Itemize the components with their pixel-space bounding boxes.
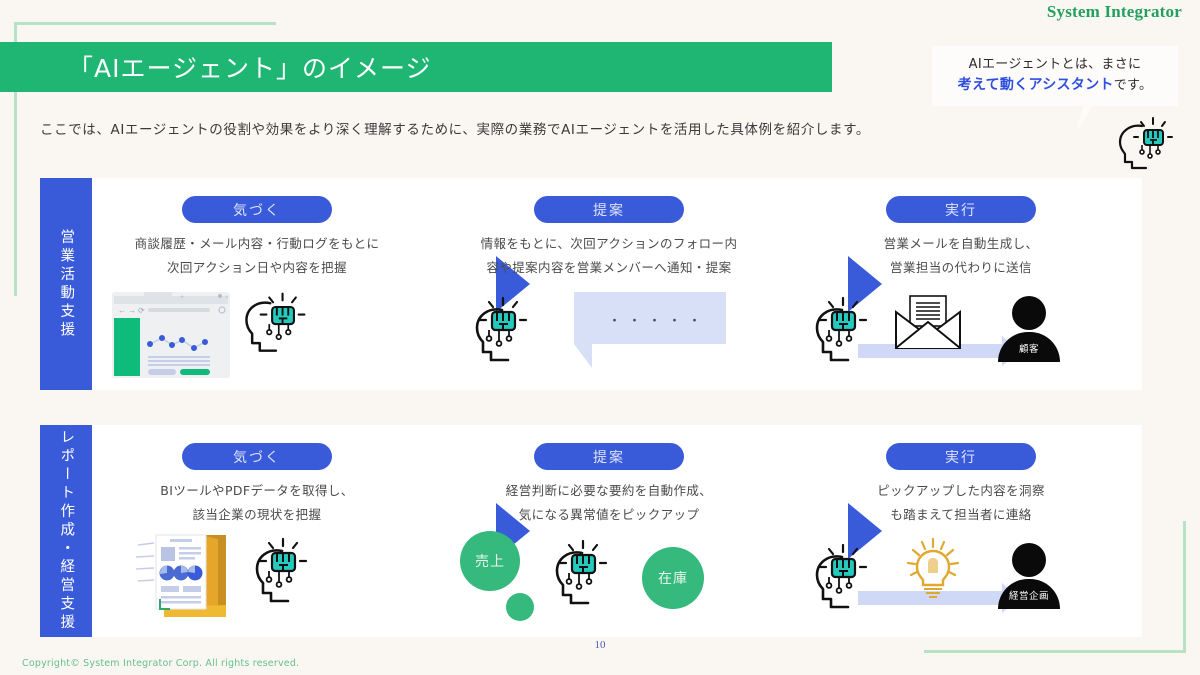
row-sales-support: 営業活動支援 気づく 商談履歴・メール内容・行動ログをもとに 次回アクション日や…	[40, 178, 1142, 390]
metric-circle-small	[506, 593, 534, 621]
row-label-text: レポート作成・経営支援	[59, 429, 74, 633]
row-label-text: 営業活動支援	[59, 229, 74, 340]
callout-tail-text: です。	[1114, 78, 1153, 93]
row-label-sales: 営業活動支援	[40, 178, 92, 390]
copyright-notice: Copyright© System Integrator Corp. All r…	[22, 658, 299, 669]
step-pill-execute: 実行	[886, 443, 1036, 470]
person-body: 経営企画	[998, 579, 1060, 609]
frame-bottom-right-vertical	[1183, 521, 1186, 653]
envelope-icon	[892, 292, 964, 354]
step-pill-propose: 提案	[534, 196, 684, 223]
speech-bubble-tail	[574, 344, 592, 368]
step-propose-sales[interactable]: 提案 情報をもとに、次回アクションのフォロー内 容や提案内容を営業メンバーへ通知…	[444, 178, 774, 390]
ai-head-icon	[540, 537, 630, 615]
svg-text:→: →	[128, 306, 136, 315]
desc-line-2: 営業担当の代わりに送信	[811, 256, 1111, 280]
slide-title-bar: 「AIエージェント」のイメージ	[0, 42, 832, 92]
ai-head-icon	[240, 535, 330, 613]
ai-head-icon	[1112, 116, 1174, 172]
lightbulb-icon	[900, 537, 966, 601]
ai-head-icon	[460, 294, 550, 372]
step-execute-report[interactable]: 実行 ピックアップした内容を洞察 も踏まえて担当者に連絡	[796, 425, 1126, 637]
page-title: 「AIエージェント」のイメージ	[68, 49, 431, 85]
desc-line-1: 商談履歴・メール内容・行動ログをもとに	[107, 232, 407, 256]
step-description: 営業メールを自動生成し、 営業担当の代わりに送信	[811, 232, 1111, 280]
art-ai-head-speech: ・・・・・	[444, 278, 774, 388]
frame-top-left-horizontal	[14, 22, 276, 25]
person-head	[1012, 296, 1046, 330]
metric-circle-stock: 在庫	[642, 547, 704, 609]
callout-tail-pointer	[1077, 105, 1093, 131]
ai-head-icon	[800, 541, 890, 619]
step-propose-report[interactable]: 提案 経営判断に必要な要約を自動作成、 気になる異常値をピックアップ 売上 在庫	[444, 425, 774, 637]
svg-text:×: ×	[225, 295, 229, 301]
step-pill-execute: 実行	[886, 196, 1036, 223]
callout-line-2: 考えて動くアシスタントです。	[958, 75, 1153, 96]
step-pill-notice: 気づく	[182, 443, 332, 470]
ai-head-icon	[800, 294, 890, 372]
desc-line-1: 営業メールを自動生成し、	[811, 232, 1111, 256]
step-execute-sales[interactable]: 実行 営業メールを自動生成し、 営業担当の代わりに送信	[796, 178, 1126, 390]
person-label: 経営企画	[998, 588, 1060, 602]
metric-circle-sales: 売上	[460, 531, 520, 591]
art-documents-and-ai	[92, 525, 422, 635]
page-number: 10	[0, 639, 1200, 651]
person-body: 顧客	[998, 332, 1060, 362]
person-planner-icon: 経営企画	[998, 543, 1060, 609]
step-notice-sales[interactable]: 気づく 商談履歴・メール内容・行動ログをもとに 次回アクション日や内容を把握 ×…	[92, 178, 422, 390]
step-notice-report[interactable]: 気づく BIツールやPDFデータを取得し、 該当企業の現状を把握	[92, 425, 422, 637]
slide-root: System Integrator 「AIエージェント」のイメージ ここでは、A…	[0, 0, 1200, 675]
art-email-to-customer: 顧客	[796, 278, 1126, 388]
brand-logo: System Integrator	[1047, 2, 1182, 22]
desc-line-2: も踏まえて担当者に連絡	[811, 503, 1111, 527]
step-description: ピックアップした内容を洞察 も踏まえて担当者に連絡	[811, 479, 1111, 527]
step-pill-notice: 気づく	[182, 196, 332, 223]
browser-mockup-icon: × + ←→⟳	[110, 282, 350, 392]
person-head	[1012, 543, 1046, 577]
documents-icon	[130, 531, 250, 627]
callout-line-1: AIエージェントとは、まさに	[969, 56, 1142, 75]
speech-bubble-dots: ・・・・・	[608, 310, 708, 329]
art-browser-dashboard: × + ←→⟳	[92, 278, 422, 388]
slide-lede-text: ここでは、AIエージェントの役割や効果をより深く理解するために、実際の業務でAI…	[40, 118, 870, 138]
row-report-support: レポート作成・経営支援 気づく BIツールやPDFデータを取得し、 該当企業の現…	[40, 425, 1142, 637]
step-description: BIツールやPDFデータを取得し、 該当企業の現状を把握	[107, 479, 407, 527]
step-description: 情報をもとに、次回アクションのフォロー内 容や提案内容を営業メンバーへ通知・提案	[459, 232, 759, 280]
callout-bold-text: 考えて動くアシスタント	[958, 77, 1114, 93]
row-label-report: レポート作成・経営支援	[40, 425, 92, 637]
person-label: 顧客	[998, 341, 1060, 355]
desc-line-2: 気になる異常値をピックアップ	[459, 503, 759, 527]
person-customer-icon: 顧客	[998, 296, 1060, 362]
step-description: 経営判断に必要な要約を自動作成、 気になる異常値をピックアップ	[459, 479, 759, 527]
desc-line-1: ピックアップした内容を洞察	[811, 479, 1111, 503]
desc-line-2: 容や提案内容を営業メンバーへ通知・提案	[459, 256, 759, 280]
desc-line-1: BIツールやPDFデータを取得し、	[107, 479, 407, 503]
row-columns: 気づく BIツールやPDFデータを取得し、 該当企業の現状を把握	[92, 425, 1142, 637]
art-idea-to-planner: 経営企画	[796, 525, 1126, 635]
svg-text:⟳: ⟳	[138, 306, 145, 315]
desc-line-1: 情報をもとに、次回アクションのフォロー内	[459, 232, 759, 256]
svg-text:←: ←	[118, 306, 126, 315]
desc-line-2: 該当企業の現状を把握	[107, 503, 407, 527]
svg-text:+: +	[180, 294, 184, 301]
callout-bubble: AIエージェントとは、まさに 考えて動くアシスタントです。	[932, 46, 1178, 106]
step-description: 商談履歴・メール内容・行動ログをもとに 次回アクション日や内容を把握	[107, 232, 407, 280]
desc-line-1: 経営判断に必要な要約を自動作成、	[459, 479, 759, 503]
desc-line-2: 次回アクション日や内容を把握	[107, 256, 407, 280]
art-metric-bubbles: 売上 在庫	[444, 525, 774, 635]
row-columns: 気づく 商談履歴・メール内容・行動ログをもとに 次回アクション日や内容を把握 ×…	[92, 178, 1142, 390]
step-pill-propose: 提案	[534, 443, 684, 470]
